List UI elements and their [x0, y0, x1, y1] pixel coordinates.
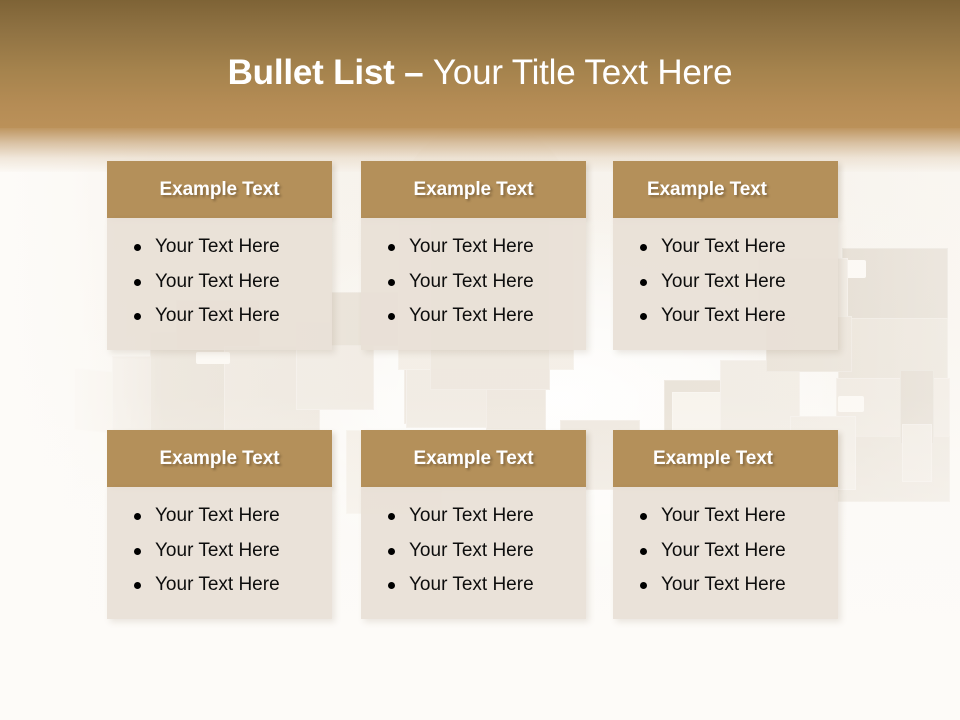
content-card-6[interactable]: Example Text Your Text Here Your Text He… — [613, 430, 838, 619]
card-2-bullet-list: Your Text Here Your Text Here Your Text … — [361, 230, 586, 334]
bullet-dot-icon — [640, 513, 647, 520]
card-4-heading: Example Text — [160, 448, 280, 470]
card-6-body: Your Text Here Your Text Here Your Text … — [613, 487, 838, 619]
card-1-heading: Example Text — [160, 179, 280, 201]
bullet-dot-icon — [134, 548, 141, 555]
list-item[interactable]: Your Text Here — [387, 499, 576, 534]
bullet-dot-icon — [388, 513, 395, 520]
bullet-dot-icon — [134, 313, 141, 320]
card-5-body: Your Text Here Your Text Here Your Text … — [361, 487, 586, 619]
list-item-label: Your Text Here — [661, 505, 786, 526]
list-item-label: Your Text Here — [661, 305, 786, 326]
list-item[interactable]: Your Text Here — [133, 265, 322, 300]
card-1-bullet-list: Your Text Here Your Text Here Your Text … — [107, 230, 332, 334]
content-card-2[interactable]: Example Text Your Text Here Your Text He… — [361, 161, 586, 350]
list-item[interactable]: Your Text Here — [639, 568, 828, 603]
card-3-heading: Example Text — [647, 179, 767, 201]
card-5-bullet-list: Your Text Here Your Text Here Your Text … — [361, 499, 586, 603]
bullet-dot-icon — [134, 582, 141, 589]
list-item[interactable]: Your Text Here — [639, 499, 828, 534]
slide: Bullet List – Your Title Text Here Examp… — [0, 0, 960, 720]
list-item-label: Your Text Here — [661, 271, 786, 292]
card-3-header[interactable]: Example Text — [613, 161, 838, 218]
page-title-space — [423, 53, 433, 92]
list-item[interactable]: Your Text Here — [387, 534, 576, 569]
card-5-heading: Example Text — [414, 448, 534, 470]
card-3-bullet-list: Your Text Here Your Text Here Your Text … — [613, 230, 838, 334]
bullet-dot-icon — [388, 313, 395, 320]
card-3-body: Your Text Here Your Text Here Your Text … — [613, 218, 838, 350]
content-card-3[interactable]: Example Text Your Text Here Your Text He… — [613, 161, 838, 350]
bullet-dot-icon — [640, 582, 647, 589]
list-item-label: Your Text Here — [661, 540, 786, 561]
list-item-label: Your Text Here — [409, 540, 534, 561]
list-item-label: Your Text Here — [155, 305, 280, 326]
card-4-bullet-list: Your Text Here Your Text Here Your Text … — [107, 499, 332, 603]
bullet-dot-icon — [640, 548, 647, 555]
list-item-label: Your Text Here — [409, 305, 534, 326]
content-card-4[interactable]: Example Text Your Text Here Your Text He… — [107, 430, 332, 619]
bullet-dot-icon — [640, 279, 647, 286]
list-item[interactable]: Your Text Here — [387, 265, 576, 300]
card-5-header[interactable]: Example Text — [361, 430, 586, 487]
card-6-header[interactable]: Example Text — [613, 430, 838, 487]
list-item[interactable]: Your Text Here — [639, 265, 828, 300]
card-1-header[interactable]: Example Text — [107, 161, 332, 218]
list-item-label: Your Text Here — [409, 574, 534, 595]
list-item[interactable]: Your Text Here — [639, 534, 828, 569]
content-card-5[interactable]: Example Text Your Text Here Your Text He… — [361, 430, 586, 619]
card-4-body: Your Text Here Your Text Here Your Text … — [107, 487, 332, 619]
list-item[interactable]: Your Text Here — [387, 568, 576, 603]
content-card-1[interactable]: Example Text Your Text Here Your Text He… — [107, 161, 332, 350]
bullet-dot-icon — [388, 244, 395, 251]
bullet-dot-icon — [134, 244, 141, 251]
card-4-header[interactable]: Example Text — [107, 430, 332, 487]
list-item-label: Your Text Here — [409, 505, 534, 526]
list-item-label: Your Text Here — [155, 574, 280, 595]
bullet-dot-icon — [134, 279, 141, 286]
list-item[interactable]: Your Text Here — [387, 299, 576, 334]
list-item[interactable]: Your Text Here — [133, 534, 322, 569]
list-item[interactable]: Your Text Here — [387, 230, 576, 265]
card-1-body: Your Text Here Your Text Here Your Text … — [107, 218, 332, 350]
bullet-dot-icon — [388, 582, 395, 589]
list-item-label: Your Text Here — [409, 271, 534, 292]
bullet-dot-icon — [640, 313, 647, 320]
page-title-light: Your Title Text Here — [433, 53, 733, 92]
bullet-dot-icon — [388, 548, 395, 555]
list-item[interactable]: Your Text Here — [639, 299, 828, 334]
list-item[interactable]: Your Text Here — [133, 499, 322, 534]
list-item[interactable]: Your Text Here — [133, 299, 322, 334]
card-2-heading: Example Text — [414, 179, 534, 201]
bullet-dot-icon — [134, 513, 141, 520]
list-item-label: Your Text Here — [409, 236, 534, 257]
card-2-body: Your Text Here Your Text Here Your Text … — [361, 218, 586, 350]
card-6-heading: Example Text — [653, 448, 773, 470]
bullet-dot-icon — [388, 279, 395, 286]
card-6-bullet-list: Your Text Here Your Text Here Your Text … — [613, 499, 838, 603]
card-2-header[interactable]: Example Text — [361, 161, 586, 218]
bullet-dot-icon — [640, 244, 647, 251]
list-item-label: Your Text Here — [155, 505, 280, 526]
page-title-strong: Bullet List – — [228, 53, 424, 92]
list-item[interactable]: Your Text Here — [639, 230, 828, 265]
list-item-label: Your Text Here — [155, 540, 280, 561]
list-item[interactable]: Your Text Here — [133, 230, 322, 265]
list-item-label: Your Text Here — [661, 574, 786, 595]
list-item-label: Your Text Here — [661, 236, 786, 257]
page-title: Bullet List – Your Title Text Here — [0, 52, 960, 94]
list-item[interactable]: Your Text Here — [133, 568, 322, 603]
list-item-label: Your Text Here — [155, 236, 280, 257]
list-item-label: Your Text Here — [155, 271, 280, 292]
